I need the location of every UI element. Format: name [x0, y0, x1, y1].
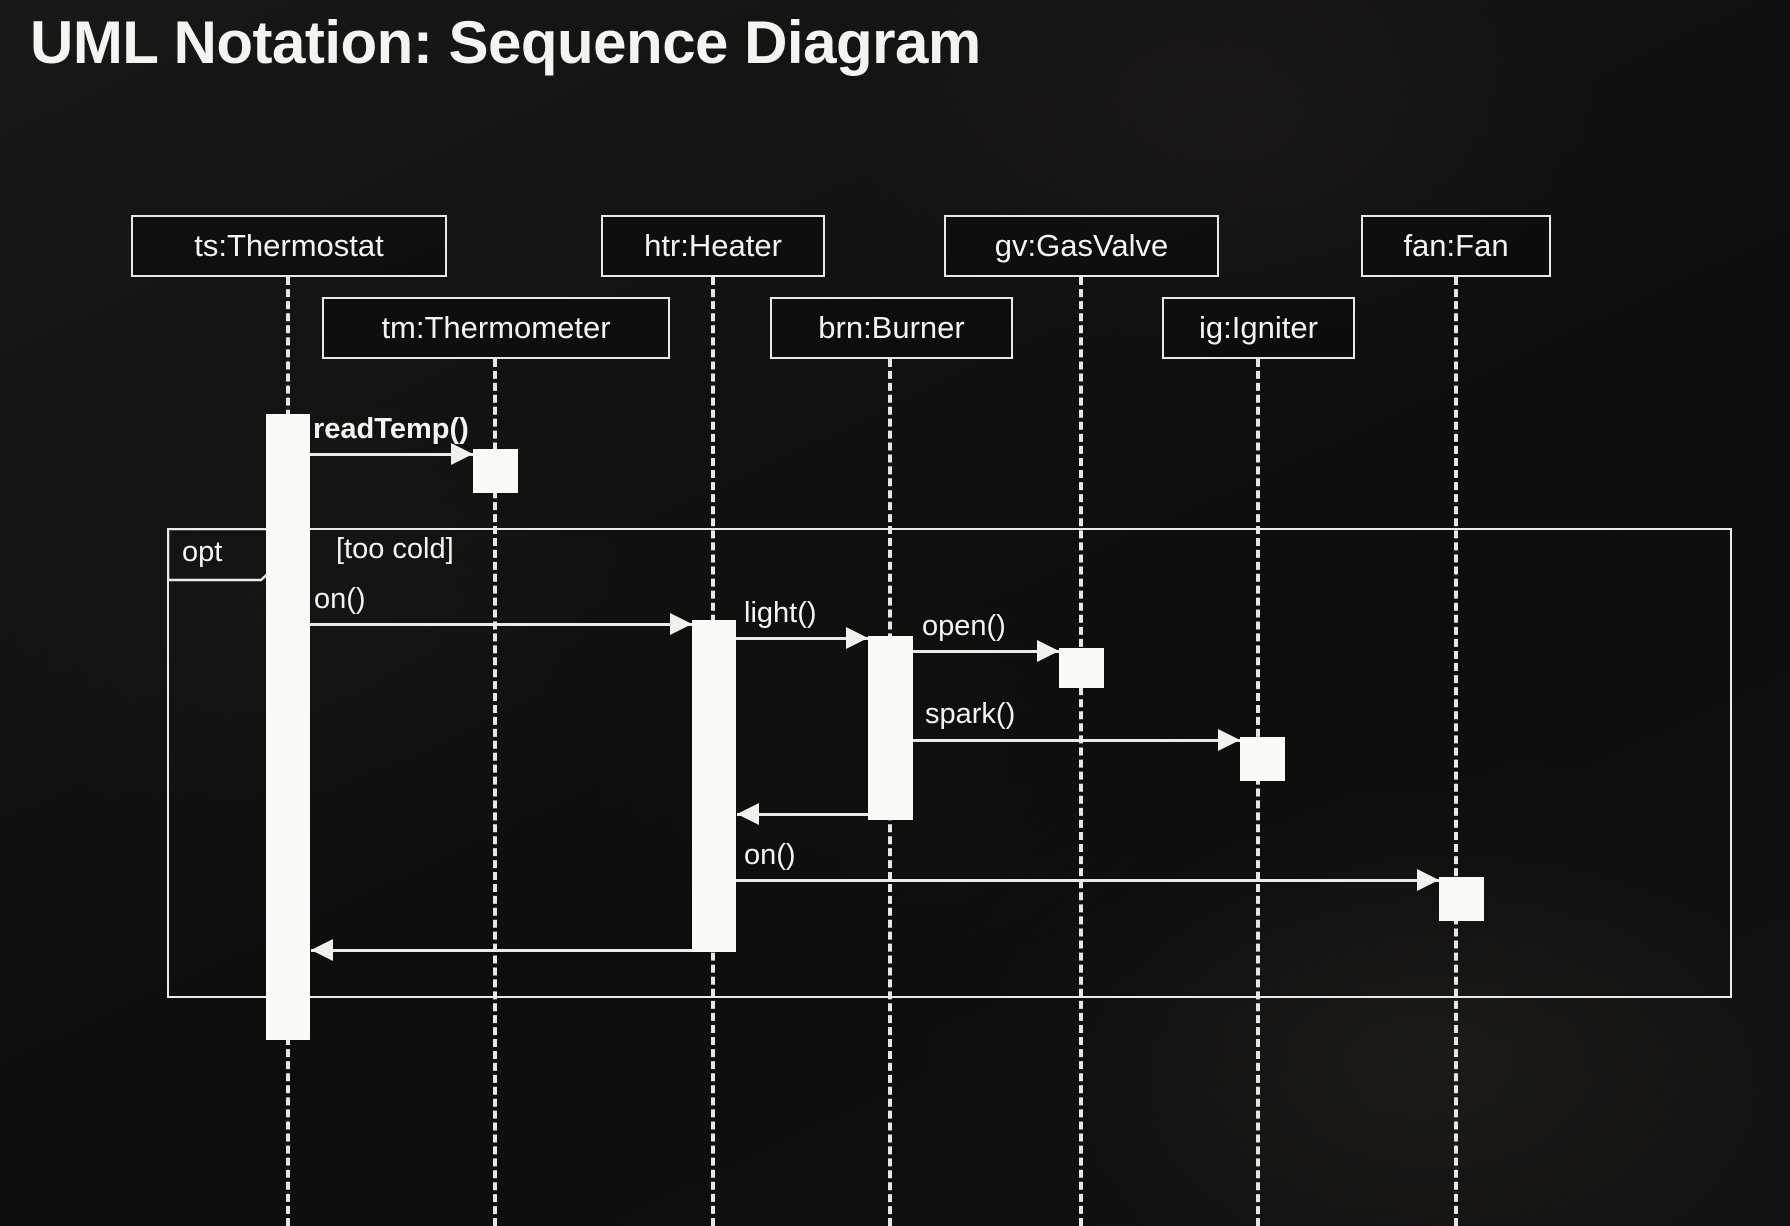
sequence-diagram-slide: UML Notation: Sequence Diagram opt[too c…	[0, 0, 1790, 1226]
message-arrowhead-m5	[1218, 729, 1240, 751]
lifeline-label-ig: ig:Igniter	[1199, 310, 1318, 346]
lifeline-box-ig[interactable]: ig:Igniter	[1162, 297, 1355, 359]
message-label-m7: on()	[744, 839, 796, 872]
lifeline-label-gv: gv:GasValve	[995, 228, 1168, 264]
message-line-m2	[310, 623, 692, 626]
message-arrowhead-m4	[1037, 640, 1059, 662]
message-label-m3: light()	[744, 597, 817, 630]
message-label-m5: spark()	[925, 698, 1015, 731]
lifeline-label-brn: brn:Burner	[818, 310, 964, 346]
activation-htr-act	[692, 620, 736, 952]
activation-ig-act	[1240, 737, 1285, 781]
lifeline-box-tm[interactable]: tm:Thermometer	[322, 297, 670, 359]
lifeline-box-brn[interactable]: brn:Burner	[770, 297, 1013, 359]
message-arrowhead-m7	[1417, 869, 1439, 891]
message-label-m1: readTemp()	[313, 413, 469, 446]
activation-ts-act	[266, 414, 310, 1040]
lifeline-box-ts[interactable]: ts:Thermostat	[131, 215, 447, 277]
opt-fragment-guard: [too cold]	[336, 533, 454, 566]
message-arrowhead-m2	[670, 613, 692, 635]
activation-fan-act	[1439, 877, 1484, 921]
lifeline-box-fan[interactable]: fan:Fan	[1361, 215, 1551, 277]
lifeline-label-ts: ts:Thermostat	[194, 228, 384, 264]
lifeline-label-tm: tm:Thermometer	[381, 310, 610, 346]
message-arrowhead-m1	[451, 443, 473, 465]
message-arrowhead-m8	[311, 939, 333, 961]
message-line-m8	[311, 949, 692, 952]
activation-brn-act	[868, 636, 913, 820]
lifeline-label-fan: fan:Fan	[1403, 228, 1508, 264]
page-title: UML Notation: Sequence Diagram	[30, 8, 981, 77]
opt-fragment	[167, 528, 1732, 998]
activation-tm-act	[473, 449, 518, 493]
opt-fragment-tag-label: opt	[182, 536, 222, 569]
message-line-m7	[736, 879, 1439, 882]
message-label-m4: open()	[922, 610, 1006, 643]
message-arrowhead-m6	[737, 803, 759, 825]
message-label-m2: on()	[314, 583, 366, 616]
activation-gv-act	[1059, 648, 1104, 688]
message-line-m1	[310, 453, 473, 456]
message-line-m5	[913, 739, 1240, 742]
lifeline-box-gv[interactable]: gv:GasValve	[944, 215, 1219, 277]
message-arrowhead-m3	[846, 627, 868, 649]
lifeline-box-htr[interactable]: htr:Heater	[601, 215, 825, 277]
lifeline-label-htr: htr:Heater	[644, 228, 782, 264]
